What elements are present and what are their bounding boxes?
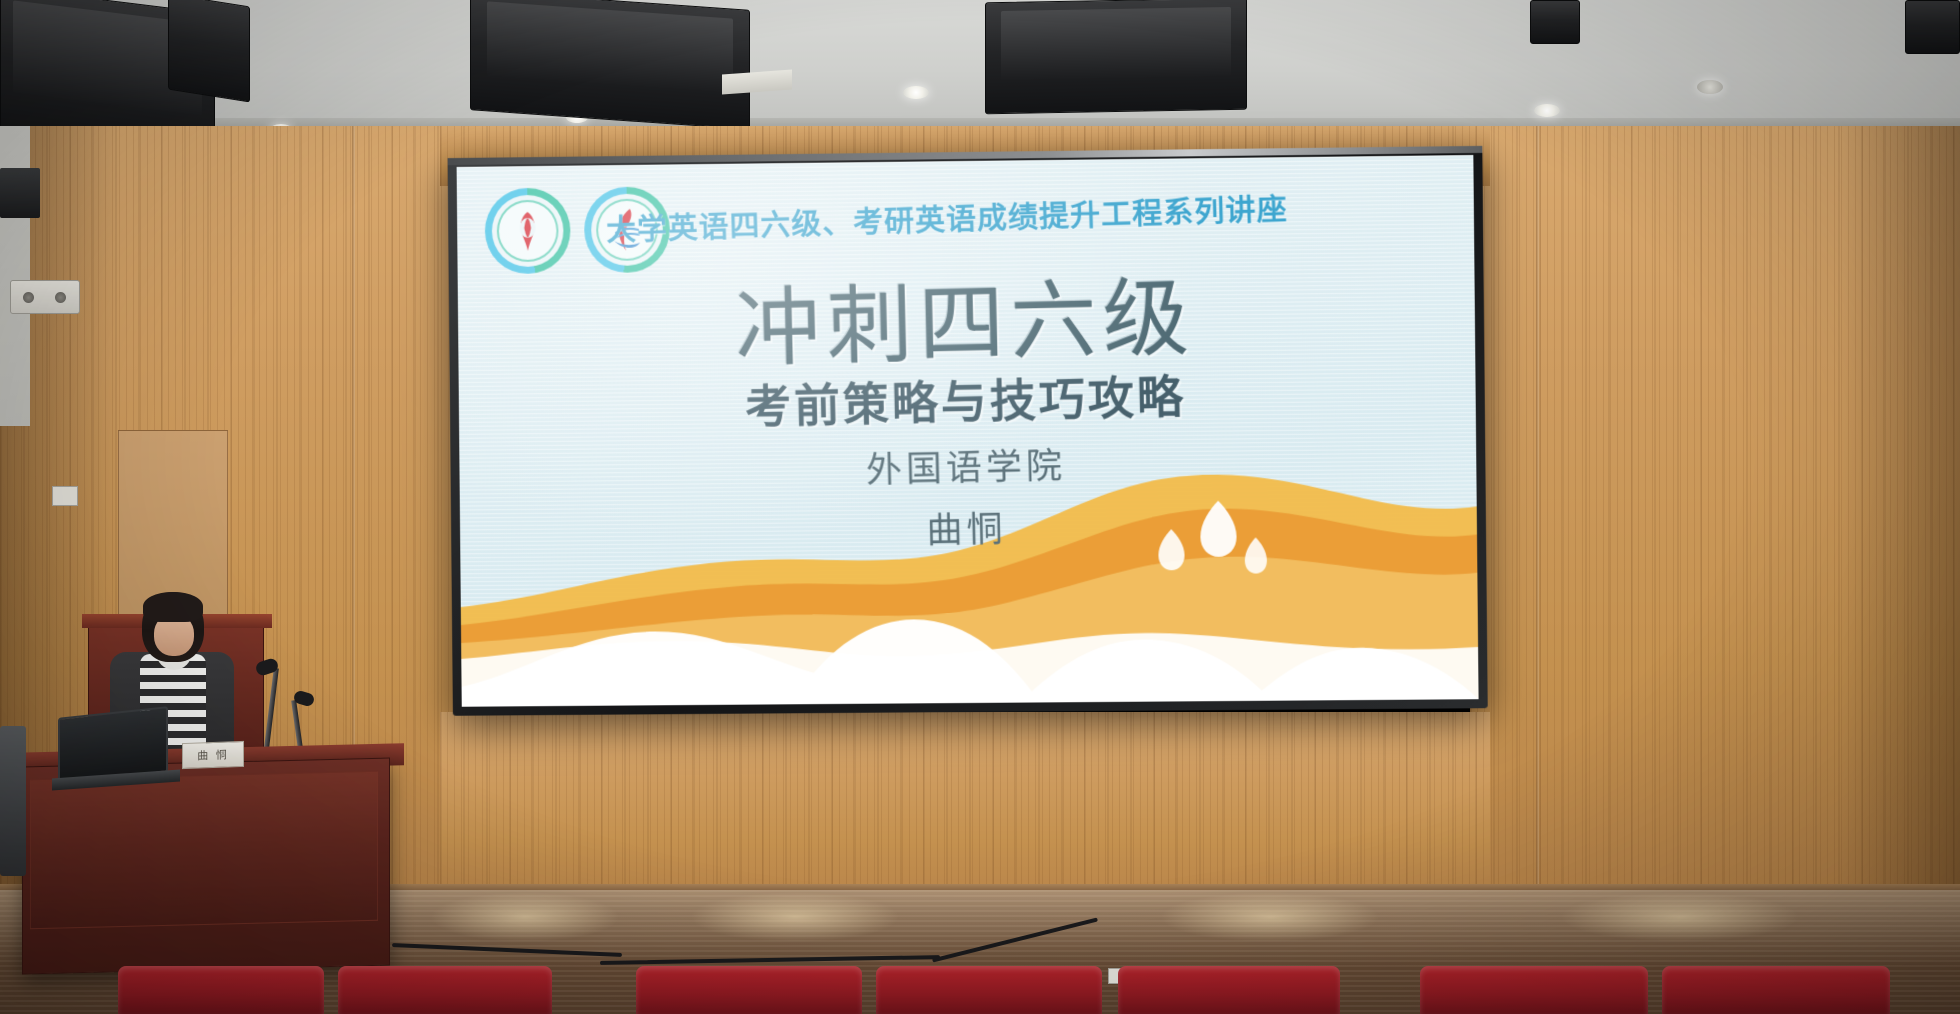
podium-nameplate: 曲 恫 xyxy=(182,741,244,769)
lecture-hall-photo: 大学英语四六级、考研英语成绩提升工程系列讲座 冲刺四六级 考前策略与技巧攻略 外… xyxy=(0,0,1960,1014)
ceiling-smoke-detector xyxy=(1697,80,1723,94)
floor-light-reflection xyxy=(1560,892,1800,942)
presentation-slide: 大学英语四六级、考研英语成绩提升工程系列讲座 冲刺四六级 考前策略与技巧攻略 外… xyxy=(457,155,1479,707)
seat xyxy=(636,966,862,1014)
ceiling-speaker xyxy=(168,0,250,102)
podium-front-panel xyxy=(30,771,378,930)
side-equipment-stand xyxy=(0,726,26,876)
presenter-hair xyxy=(143,592,203,622)
wall-seam xyxy=(1536,126,1539,896)
ceiling-speaker xyxy=(1905,0,1960,54)
switch-knob-icon[interactable] xyxy=(23,292,34,303)
wall-vent-grille xyxy=(0,168,40,218)
university-seal-logo xyxy=(485,188,571,275)
seat xyxy=(118,966,324,1014)
floor-light-reflection xyxy=(690,892,900,942)
ceiling xyxy=(0,0,1960,128)
led-screen-display[interactable]: 大学英语四六级、考研英语成绩提升工程系列讲座 冲刺四六级 考前策略与技巧攻略 外… xyxy=(457,155,1479,707)
slide-presenter-name: 曲恫 xyxy=(460,489,1478,564)
floor-light-reflection xyxy=(430,892,620,942)
ceiling-speaker xyxy=(985,0,1247,114)
ceiling-downlight xyxy=(1534,104,1560,117)
ceiling-downlight xyxy=(903,86,929,99)
slide-header-text: 大学英语四六级、考研英语成绩提升工程系列讲座 xyxy=(606,179,1458,250)
led-screen-frame: 大学英语四六级、考研英语成绩提升工程系列讲座 冲刺四六级 考前策略与技巧攻略 外… xyxy=(448,146,1488,716)
wood-wall-below-screen xyxy=(440,712,1490,896)
seat xyxy=(876,966,1102,1014)
floor-light-reflection xyxy=(1160,892,1380,942)
light-switch-plate[interactable] xyxy=(10,280,80,314)
ceiling-speaker xyxy=(470,0,750,130)
switch-knob-icon[interactable] xyxy=(55,292,66,303)
wall-outlet-plate[interactable] xyxy=(52,486,78,506)
auditorium-seat-row xyxy=(0,966,1960,1014)
ceiling-speaker xyxy=(1530,0,1580,44)
wall-shadow-right xyxy=(1840,126,1960,896)
seat xyxy=(1662,966,1890,1014)
seat xyxy=(338,966,552,1014)
seat xyxy=(1118,966,1340,1014)
university-emblem-icon xyxy=(501,204,555,258)
seat xyxy=(1420,966,1648,1014)
